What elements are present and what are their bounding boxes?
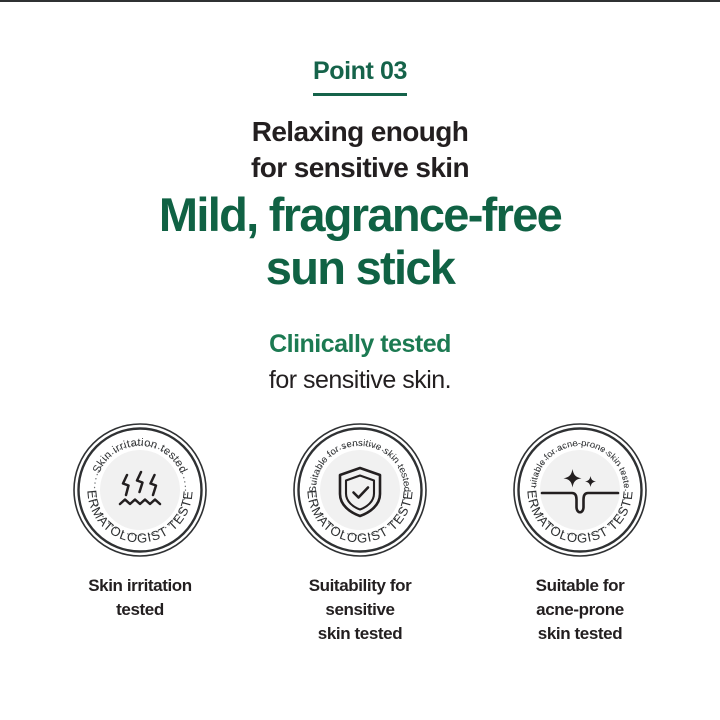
badge-caption-3-line-3: skin tested — [536, 622, 625, 646]
sub-headline: Relaxing enough for sensitive skin — [0, 114, 720, 186]
badge-caption-2: Suitability for sensitive skin tested — [309, 574, 412, 646]
sub-headline-line-2: for sensitive skin — [0, 150, 720, 186]
clinical-claim-green: Clinically tested — [0, 328, 720, 362]
badge-sensitive-skin: Suitable for sensitive skin tested DERMA… — [270, 422, 450, 646]
seal-skin-irritation: Skin irritation tested DERMATOLOGIST TES… — [72, 422, 208, 558]
badge-acne-prone: Suitable for acne-prone skin tested DERM… — [490, 422, 670, 646]
clinical-claim-dark: for sensitive skin. — [0, 364, 720, 398]
badge-caption-1-line-1: Skin irritation — [88, 574, 192, 598]
badge-caption-1-line-2: tested — [88, 598, 192, 622]
badge-caption-1: Skin irritation tested — [88, 574, 192, 622]
main-headline-line-2: sun stick — [0, 241, 720, 294]
badge-caption-2-line-2: sensitive — [309, 598, 412, 622]
promo-page: Point 03 Relaxing enough for sensitive s… — [0, 0, 720, 720]
badge-caption-3: Suitable for acne-prone skin tested — [536, 574, 625, 646]
seal-sensitive-skin: Suitable for sensitive skin tested DERMA… — [292, 422, 428, 558]
clinical-claim: Clinically tested for sensitive skin. — [0, 328, 720, 398]
main-headline-line-1: Mild, fragrance-free — [0, 188, 720, 241]
seal-acne-prone: Suitable for acne-prone skin tested DERM… — [512, 422, 648, 558]
page-title: Mild, fragrance-free sun stick — [0, 188, 720, 294]
badge-caption-3-line-2: acne-prone — [536, 598, 625, 622]
badge-caption-2-line-3: skin tested — [309, 622, 412, 646]
certification-badges: Skin irritation tested DERMATOLOGIST TES… — [50, 422, 670, 646]
sub-headline-line-1: Relaxing enough — [0, 114, 720, 150]
point-label-wrap: Point 03 — [0, 58, 720, 96]
badge-skin-irritation: Skin irritation tested DERMATOLOGIST TES… — [50, 422, 230, 622]
badge-caption-3-line-1: Suitable for — [536, 574, 625, 598]
badge-caption-2-line-1: Suitability for — [309, 574, 412, 598]
point-label: Point 03 — [313, 58, 407, 96]
